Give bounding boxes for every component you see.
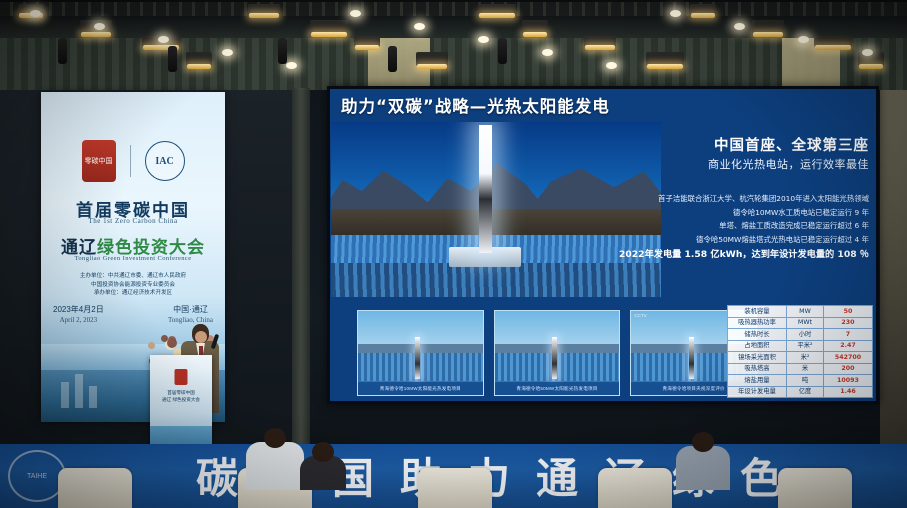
stage-bulb-icon bbox=[30, 10, 41, 17]
stage-spotlight-icon bbox=[478, 4, 516, 15]
poster-date-en: April 2, 2023 bbox=[53, 315, 104, 326]
ceiling-truss-area bbox=[0, 0, 907, 96]
conference-stage-scene: 零碳中国 IAC 首届零碳中国 The 1st Zero Carbon Chin… bbox=[0, 0, 907, 508]
stage-spotlight-icon bbox=[646, 52, 684, 66]
flower-petal bbox=[161, 335, 168, 342]
stage-bulb-icon bbox=[286, 62, 297, 69]
poster-building bbox=[61, 382, 69, 408]
stage-bulb-icon bbox=[350, 10, 361, 17]
stage-spotlight-icon bbox=[814, 36, 852, 47]
stage-bulb-icon bbox=[158, 36, 169, 43]
audience-member bbox=[246, 442, 304, 490]
truss-beam bbox=[0, 2, 907, 16]
stage-bulb-icon bbox=[606, 62, 617, 69]
stage-bulb-icon bbox=[94, 23, 105, 30]
poster-place-cn: 中国·通辽 bbox=[168, 304, 213, 315]
moving-head-light-icon bbox=[168, 46, 177, 72]
moving-head-light-icon bbox=[498, 38, 507, 64]
poster-place-en: Tongliao, China bbox=[168, 315, 213, 326]
speaker-face bbox=[195, 331, 207, 343]
stage-pillar bbox=[292, 88, 310, 463]
stage-bulb-icon bbox=[478, 36, 489, 43]
audience-chair bbox=[598, 468, 672, 508]
stage-spotlight-icon bbox=[690, 4, 716, 15]
audience-member bbox=[676, 446, 730, 490]
audience-member-head bbox=[264, 428, 286, 448]
screen-bezel bbox=[327, 86, 879, 404]
led-presentation-screen: 助力“双碳”战略—光热太阳能发电 中国首座、全球第三座 商业化光热电站，运行效率… bbox=[327, 86, 879, 404]
right-wall bbox=[880, 90, 907, 462]
podium-label-line2: 通辽 绿色投资大会 bbox=[150, 396, 212, 403]
audience-member-head bbox=[692, 432, 714, 452]
poster-subtitle-en: Tongliao Green Investment Conference bbox=[41, 255, 225, 262]
stage-spotlight-icon bbox=[354, 36, 380, 47]
audience-member-head bbox=[312, 442, 334, 462]
audience-chair bbox=[58, 468, 132, 508]
moving-head-light-icon bbox=[58, 38, 67, 64]
stage-spotlight-icon bbox=[248, 4, 280, 15]
stage-bulb-icon bbox=[734, 23, 745, 30]
poster-date-place: 2023年4月2日 April 2, 2023 中国·通辽 Tongliao, … bbox=[53, 304, 213, 326]
audience-chair bbox=[418, 468, 492, 508]
poster-logo-row: 零碳中国 IAC bbox=[41, 138, 225, 184]
audience-chair bbox=[778, 468, 852, 508]
stage-spotlight-icon bbox=[186, 52, 212, 66]
moving-head-light-icon bbox=[278, 38, 287, 64]
podium-label-line1: 首届零碳中国 bbox=[150, 389, 212, 396]
poster-title-en: The 1st Zero Carbon China bbox=[41, 217, 225, 225]
stage-bulb-icon bbox=[414, 23, 425, 30]
poster-date-cn: 2023年4月2日 bbox=[53, 304, 104, 315]
organizer-line: 中国投资协会能源投资专业委员会 bbox=[49, 281, 217, 290]
iac-logo-icon: IAC bbox=[145, 141, 185, 181]
podium-seal-icon bbox=[175, 369, 188, 385]
zero-carbon-seal-icon: 零碳中国 bbox=[82, 140, 116, 182]
flower-petal bbox=[167, 338, 177, 348]
stage-bulb-icon bbox=[862, 49, 873, 56]
stage-spotlight-icon bbox=[752, 20, 784, 34]
poster-building bbox=[89, 386, 97, 408]
stage-bulb-icon bbox=[670, 10, 681, 17]
stage-spotlight-icon bbox=[416, 52, 448, 66]
poster-building bbox=[75, 374, 83, 408]
flower-petal bbox=[148, 342, 155, 349]
stage-spotlight-icon bbox=[584, 36, 616, 47]
logo-divider bbox=[130, 145, 131, 177]
podium-label: 首届零碳中国 通辽 绿色投资大会 bbox=[150, 389, 212, 403]
organizer-line: 承办单位：通辽经济技术开发区 bbox=[49, 289, 217, 298]
stage-bulb-icon bbox=[542, 49, 553, 56]
stage-bulb-icon bbox=[798, 36, 809, 43]
poster-organizers: 主办单位：中共通辽市委、通辽市人民政府 中国投资协会能源投资专业委员会 承办单位… bbox=[49, 272, 217, 298]
stage-spotlight-icon bbox=[310, 20, 348, 34]
stage-bulb-icon bbox=[222, 49, 233, 56]
organizer-line: 主办单位：中共通辽市委、通辽市人民政府 bbox=[49, 272, 217, 281]
stage-spotlight-icon bbox=[522, 20, 548, 34]
moving-head-light-icon bbox=[388, 46, 397, 72]
